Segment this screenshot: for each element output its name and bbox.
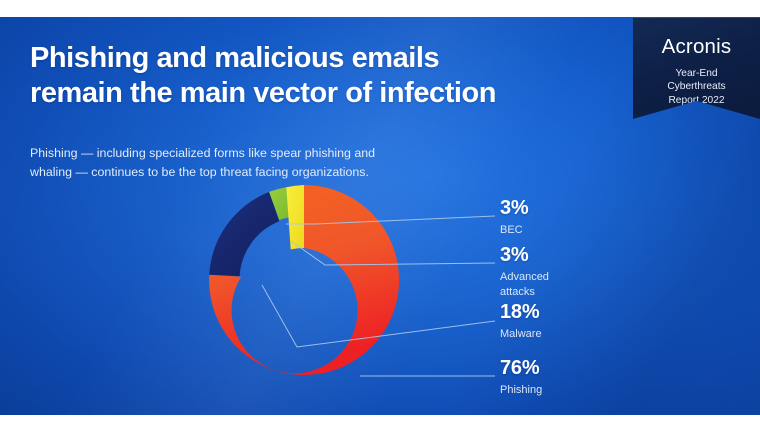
callout-malware-percent: 18% [500, 302, 542, 322]
badge-report-line-2: Cyberthreats [633, 80, 760, 94]
callout-advanced-attacks: 3% Advanced attacks [500, 245, 549, 299]
callout-bec-percent: 3% [500, 198, 529, 218]
page-subtitle-line-2: whaling — continues to be the top threat… [30, 163, 450, 182]
page-subtitle: Phishing — including specialized forms l… [30, 144, 450, 182]
callout-malware: 18% Malware [500, 302, 542, 342]
callout-advanced-attacks-label: Advanced attacks [500, 270, 549, 299]
callout-advanced-attacks-label-line-1: Advanced [500, 270, 549, 285]
donut-slice-malware [209, 192, 279, 276]
callout-bec: 3% BEC [500, 198, 529, 238]
callout-phishing-label: Phishing [500, 383, 542, 398]
callout-phishing-label-line-1: Phishing [500, 383, 542, 398]
callout-advanced-attacks-label-line-2: attacks [500, 285, 549, 300]
badge-text-block: Acronis Year-End Cyberthreats Report 202… [633, 37, 760, 108]
callout-bec-label-line-1: BEC [500, 223, 529, 238]
acronis-logo-text: Acronis [633, 37, 760, 58]
callout-malware-label-line-1: Malware [500, 327, 542, 342]
callout-malware-label: Malware [500, 327, 542, 342]
callout-bec-label: BEC [500, 223, 529, 238]
callout-phishing-percent: 76% [500, 358, 542, 378]
page-title-line-1: Phishing and malicious emails [30, 41, 570, 76]
page-subtitle-line-1: Phishing — including specialized forms l… [30, 144, 450, 163]
badge-report-line-1: Year-End [633, 67, 760, 81]
page-title-line-2: remain the main vector of infection [30, 76, 570, 111]
slide-canvas: Phishing and malicious emails remain the… [0, 0, 760, 440]
infographic-stage: Phishing and malicious emails remain the… [0, 17, 760, 415]
donut-slice-advanced-attacks [286, 185, 304, 249]
callout-advanced-attacks-percent: 3% [500, 245, 549, 265]
callout-phishing: 76% Phishing [500, 358, 542, 398]
page-title: Phishing and malicious emails remain the… [30, 41, 570, 112]
